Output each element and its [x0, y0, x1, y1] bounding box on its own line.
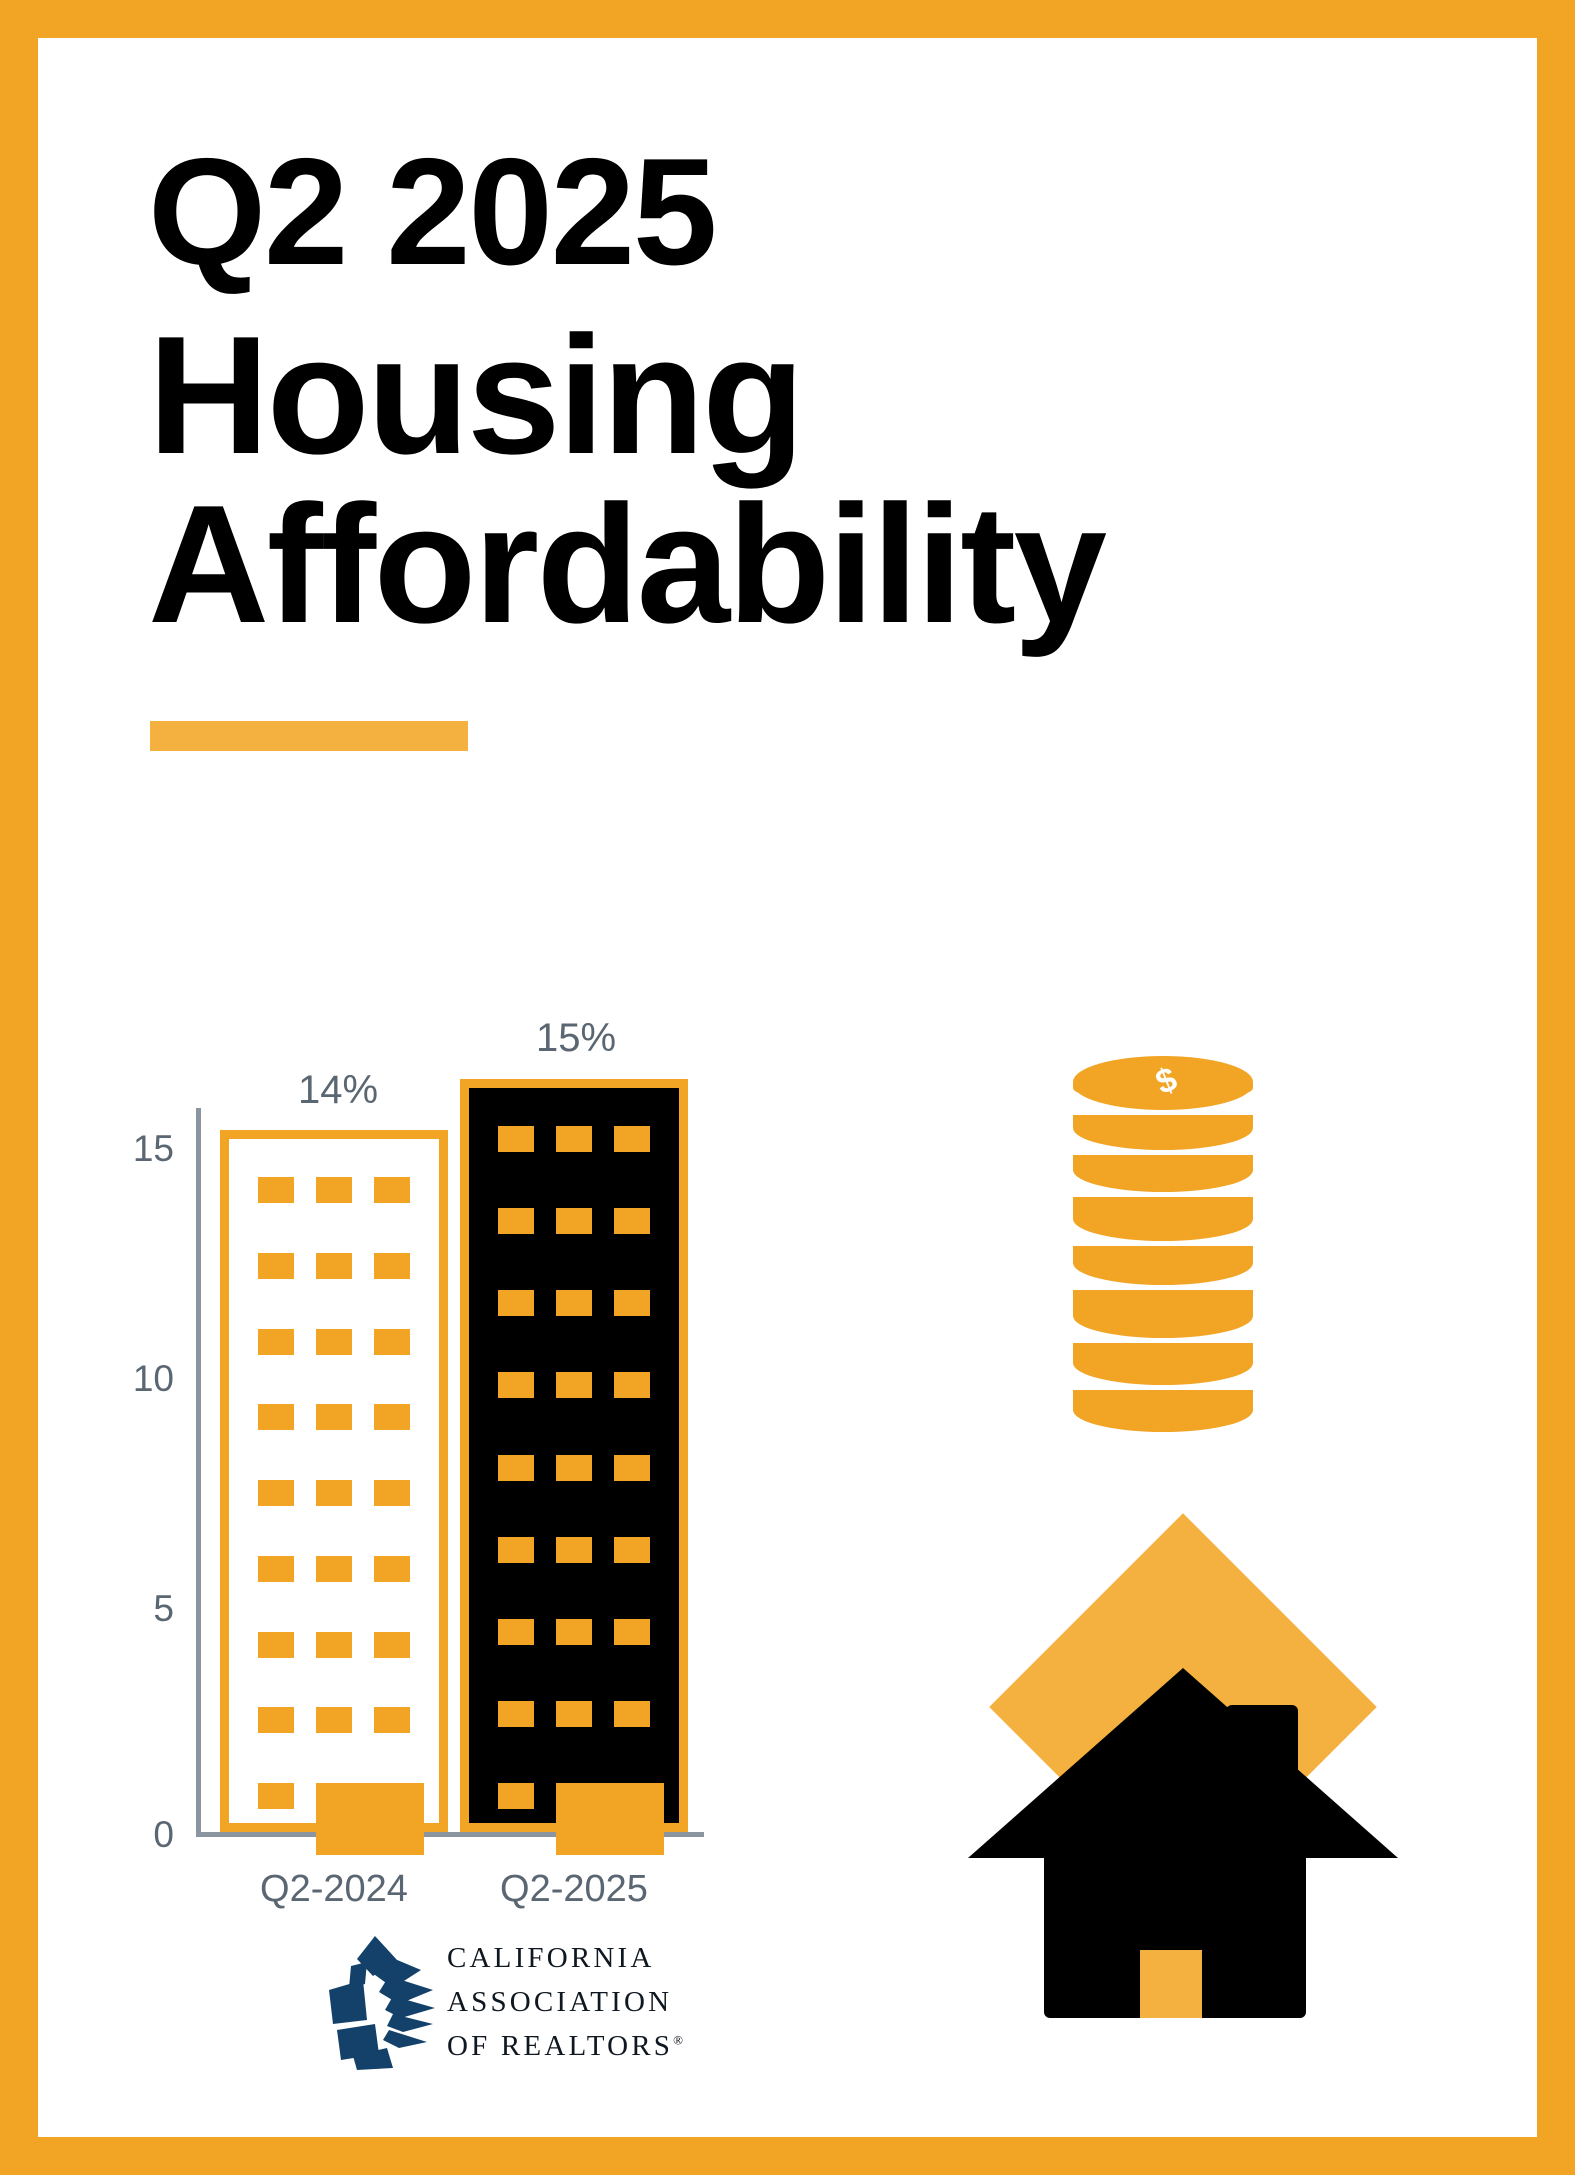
building-window	[614, 1701, 650, 1727]
building-door	[316, 1783, 424, 1855]
headline-afford: Affordability	[148, 482, 1438, 647]
building-window	[374, 1253, 410, 1279]
car-logo-line1: CALIFORNIA	[447, 1942, 655, 1975]
poster-frame: Q2 2025 Housing Affordability 15 10 5 0 …	[0, 0, 1575, 2175]
registered-mark: ®	[673, 2032, 686, 2047]
building-window	[556, 1455, 592, 1481]
building-window	[614, 1372, 650, 1398]
house-icon	[968, 1568, 1398, 2018]
headline-housing: Housing	[148, 313, 1438, 478]
car-logo-line3: OF REALTORS®	[447, 2030, 686, 2063]
building-door	[556, 1783, 664, 1855]
building-window	[556, 1208, 592, 1234]
house-chimney	[1226, 1705, 1298, 1815]
building-window	[614, 1537, 650, 1563]
building-window	[498, 1537, 534, 1563]
building-window	[258, 1177, 294, 1203]
coin-3	[1073, 1155, 1253, 1192]
coin-7	[1073, 1343, 1253, 1385]
bar-value-q2-2025: 15%	[456, 1016, 696, 1061]
house-door	[1140, 1950, 1202, 2018]
bar-value-q2-2024: 14%	[218, 1068, 458, 1113]
coin-4	[1073, 1197, 1253, 1241]
building-window	[556, 1619, 592, 1645]
building-window	[498, 1619, 534, 1645]
building-window	[374, 1329, 410, 1355]
building-window	[614, 1619, 650, 1645]
building-window	[316, 1253, 352, 1279]
building-window	[556, 1701, 592, 1727]
x-label-q2-2025: Q2-2025	[458, 1868, 690, 1911]
building-window	[498, 1290, 534, 1316]
building-window	[258, 1632, 294, 1658]
coin-6	[1073, 1290, 1253, 1338]
headline-block: Q2 2025 Housing Affordability	[148, 138, 1438, 646]
building-window	[258, 1253, 294, 1279]
bar-q2-2025[interactable]	[460, 1079, 688, 1832]
building-window	[614, 1290, 650, 1316]
building-window	[258, 1707, 294, 1733]
building-window	[374, 1707, 410, 1733]
building-window	[316, 1480, 352, 1506]
affordability-bar-chart: 15 10 5 0 14% Q2-2024 15% Q2-2025	[108, 1078, 768, 1978]
building-window	[316, 1707, 352, 1733]
headline-quarter: Q2 2025	[148, 138, 1438, 287]
building-window	[498, 1372, 534, 1398]
building-window	[498, 1208, 534, 1234]
building-window	[614, 1208, 650, 1234]
building-window	[258, 1404, 294, 1430]
building-window	[316, 1632, 352, 1658]
coin-8	[1073, 1390, 1253, 1432]
building-windows-right	[469, 1088, 679, 1823]
building-window	[374, 1556, 410, 1582]
building-window	[316, 1556, 352, 1582]
building-window	[498, 1126, 534, 1152]
building-window	[556, 1126, 592, 1152]
building-window	[258, 1329, 294, 1355]
y-tick-15: 15	[108, 1130, 174, 1167]
building-window	[316, 1404, 352, 1430]
coin-2	[1073, 1115, 1253, 1150]
y-tick-5: 5	[108, 1590, 174, 1627]
accent-rule	[150, 721, 468, 751]
coin-5	[1073, 1246, 1253, 1285]
building-window	[316, 1177, 352, 1203]
building-window	[556, 1537, 592, 1563]
building-window	[498, 1455, 534, 1481]
building-window	[498, 1783, 534, 1809]
bar-q2-2024[interactable]	[220, 1130, 448, 1832]
building-window	[614, 1455, 650, 1481]
car-logo-mark	[323, 1932, 435, 2070]
building-window	[258, 1480, 294, 1506]
building-window	[498, 1701, 534, 1727]
building-windows-left	[229, 1139, 439, 1823]
building-window	[374, 1480, 410, 1506]
building-window	[556, 1372, 592, 1398]
building-window	[556, 1290, 592, 1316]
building-window	[316, 1329, 352, 1355]
car-logo-line3-text: OF REALTORS	[447, 2030, 673, 2062]
y-tick-10: 10	[108, 1360, 174, 1397]
house-roof	[968, 1668, 1398, 1858]
building-window	[258, 1556, 294, 1582]
building-window	[374, 1632, 410, 1658]
car-logo-line2: ASSOCIATION	[447, 1986, 672, 2019]
building-window	[258, 1783, 294, 1809]
y-axis	[196, 1108, 201, 1832]
building-window	[614, 1126, 650, 1152]
car-logo: CALIFORNIA ASSOCIATION OF REALTORS®	[323, 1928, 683, 2078]
y-tick-0: 0	[108, 1816, 174, 1853]
building-window	[374, 1177, 410, 1203]
x-label-q2-2024: Q2-2024	[218, 1868, 450, 1911]
poster-canvas: Q2 2025 Housing Affordability 15 10 5 0 …	[38, 38, 1537, 2137]
building-window	[374, 1404, 410, 1430]
coin-stack-icon: $	[1073, 1058, 1253, 1438]
